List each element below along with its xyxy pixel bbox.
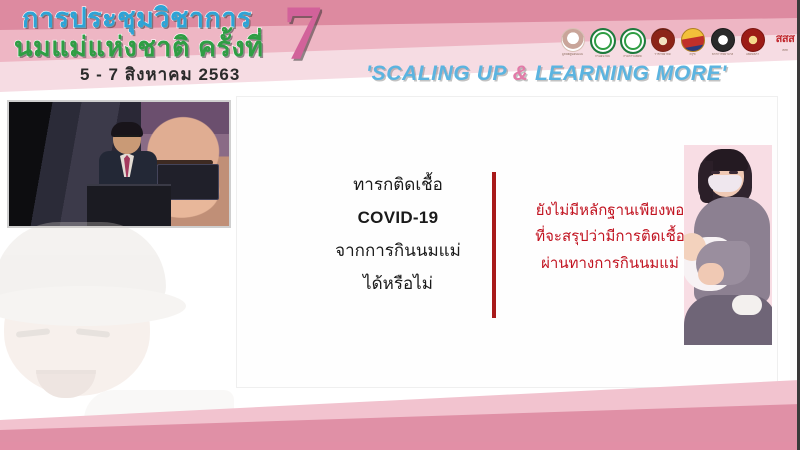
department-health-icon [620,28,646,54]
royal-college-icon [651,28,675,52]
nursing-council-icon [711,28,735,52]
watermark-hat-brim [0,286,186,326]
question-line-3: จากการกินนมแม่ [318,234,478,267]
conference-title-line-1: การประชุมวิชาการ [22,5,252,32]
tagline-ampersand: & [513,62,529,85]
answer-line-1: ยังไม่มีหลักฐานเพียงพอ [505,198,715,224]
answer-line-2: ที่จะสรุปว่ามีการติดเชื้อ [505,224,715,250]
logo-caption: กรมการแพทย์ [620,55,645,58]
logo-caption: สสส [770,49,800,52]
child-watermark-image [0,222,232,427]
thaihealth-logo: สสส สสส [770,28,800,60]
page-number: 6 [735,388,740,398]
logo-caption: กรมอนามัย [590,55,615,58]
logo-caption: มูลนิธิศูนย์นมแม่ [560,53,585,56]
royal-emblem-icon [561,28,585,52]
question-text-block: ทารกติดเชื้อ COVID-19 จากการกินนมแม่ ได้… [318,168,478,301]
watermark-face [4,270,150,396]
sponsor-logo-strip: มูลนิธิศูนย์นมแม่ กรมอนามัย กรมการแพทย์ … [560,22,800,60]
watermark-hat [0,222,166,308]
conference-edition-number: 7 [283,0,322,72]
logo-caption: ราชวิทยาลัย [650,53,675,56]
footer-band-edge [0,442,800,450]
nursing-council-logo: สภาการพยาบาล [710,28,735,60]
conference-title-line-2: นมแม่แห่งชาติ ครั้งที่ [14,34,263,61]
vertical-divider-line [492,172,496,318]
logo-caption: สภาการพยาบาล [710,53,735,56]
watermark-shirt [84,390,234,450]
medical-council-icon [741,28,765,52]
watermark-smile [36,370,96,398]
mother-eye-right [729,171,738,174]
photo-podium [87,184,171,226]
tagline-suffix: LEARNING MORE' [529,62,727,85]
watermark-eye-right [76,328,110,338]
royal-college-logo: ราชวิทยาลัย [650,28,675,60]
ministry-health-logo: กรมอนามัย [590,28,615,60]
garuda-emblem-icon [681,28,705,52]
watermark-eye-left [16,328,50,338]
ministry-health-icon [590,28,616,54]
thaihealth-icon: สสส [770,28,800,48]
tagline-prefix: 'SCALING UP [366,62,513,85]
conference-date: 5 - 7 สิงหาคม 2563 [80,66,240,83]
speaker-photo [7,100,231,228]
speaker-glasses-icon [115,135,139,142]
face-mask-icon [708,175,742,192]
question-line-2: COVID-19 [318,201,478,234]
answer-text-block: ยังไม่มีหลักฐานเพียงพอ ที่จะสรุปว่ามีการ… [505,198,715,277]
presentation-slide: การประชุมวิชาการ นมแม่แห่งชาติ ครั้งที่ … [0,0,800,450]
logo-caption: แพทยสภา [740,53,765,56]
logo-caption: ครุฑ [680,53,705,56]
footer-band-dark-pink [0,402,800,450]
medical-council-logo: แพทยสภา [740,28,765,60]
garuda-emblem-logo: ครุฑ [680,28,705,60]
conference-tagline: 'SCALING UP & LEARNING MORE' [366,62,727,86]
question-line-4: ได้หรือไม่ [318,267,478,300]
department-health-logo: กรมการแพทย์ [620,28,645,60]
question-line-1: ทารกติดเชื้อ [318,168,478,201]
answer-line-3: ผ่านทางการกินนมแม่ [505,251,715,277]
mother-foot [732,295,762,315]
footer-band-light-pink [0,380,800,450]
royal-emblem-logo: มูลนิธิศูนย์นมแม่ [560,28,585,60]
mother-eye-left [711,171,720,174]
